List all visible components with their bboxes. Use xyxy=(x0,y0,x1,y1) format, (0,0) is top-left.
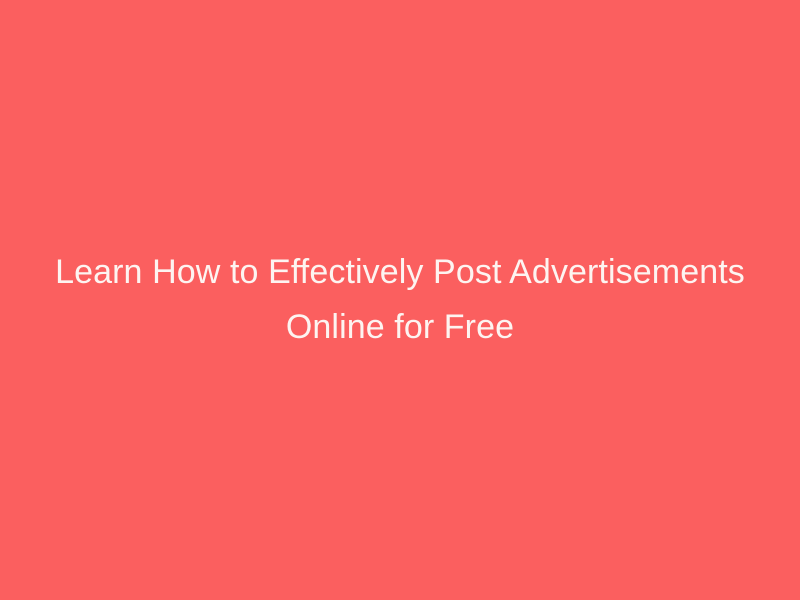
banner-content: Learn How to Effectively Post Advertisem… xyxy=(0,245,800,355)
banner-hero: Learn How to Effectively Post Advertisem… xyxy=(0,0,800,600)
page-title: Learn How to Effectively Post Advertisem… xyxy=(55,245,745,355)
